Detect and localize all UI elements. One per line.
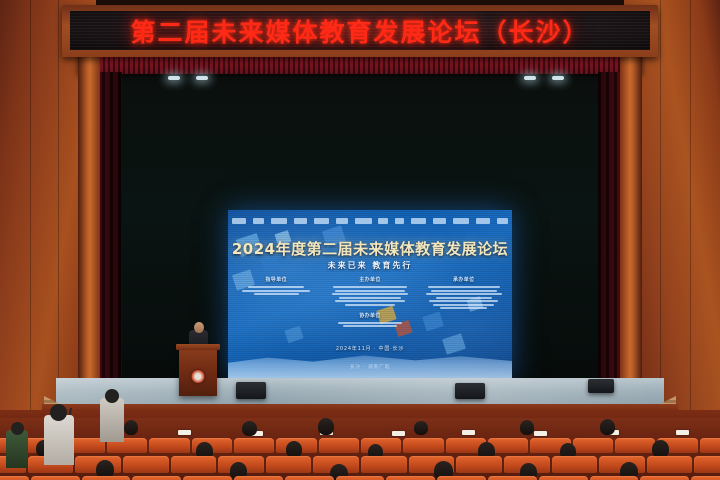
organizer-column-heading: 主办单位 bbox=[330, 276, 410, 283]
organizer-column: 指导单位 bbox=[236, 276, 316, 327]
organizer-column: 承办单位 bbox=[424, 276, 504, 327]
audience-seat bbox=[386, 476, 435, 480]
audience-seat bbox=[319, 438, 359, 453]
audience-seat bbox=[640, 476, 689, 480]
stage-spot-light bbox=[524, 76, 536, 80]
stage-monitor-right bbox=[455, 383, 485, 399]
screen-venue-line: 长沙 · 湖南广电 bbox=[228, 364, 512, 370]
stage-floor bbox=[56, 378, 664, 406]
audience-seat bbox=[403, 438, 443, 453]
stage-spot-light bbox=[196, 76, 208, 80]
audience-seat bbox=[234, 476, 283, 480]
audience-seat bbox=[266, 456, 312, 473]
presenter-head bbox=[194, 322, 204, 333]
audience-head bbox=[124, 420, 138, 435]
wood-pilaster-left bbox=[78, 40, 100, 430]
speaking-podium bbox=[179, 348, 217, 396]
audience-seat bbox=[615, 438, 655, 453]
screen-organizer-columns: 指导单位 主办单位 协办单位 承办单位 bbox=[236, 276, 504, 327]
led-banner-frame: 第二届未来媒体教育发展论坛（长沙） bbox=[62, 5, 658, 57]
audience-seat bbox=[336, 476, 385, 480]
stage-spot-light bbox=[552, 76, 564, 80]
podium-top-surface bbox=[176, 344, 220, 350]
audience-seat bbox=[361, 456, 407, 473]
audience-seat bbox=[647, 456, 693, 473]
stage-led-screen: 2024年度第二届未来媒体教育发展论坛 未来已来 教育先行 指导单位 主办单位 … bbox=[228, 210, 512, 378]
audience-seat bbox=[573, 438, 613, 453]
audience-head bbox=[520, 420, 534, 435]
stage-monitor-left bbox=[236, 382, 266, 399]
audience-seat bbox=[234, 438, 274, 453]
audience-head bbox=[414, 421, 428, 435]
screen-forum-subtitle: 未来已来 教育先行 bbox=[228, 260, 512, 271]
wood-pilaster-right bbox=[620, 40, 642, 430]
audience-seat bbox=[691, 476, 720, 480]
stage-spot-light bbox=[168, 76, 180, 80]
audience-seat bbox=[700, 438, 720, 453]
sponsor-logo-strip bbox=[232, 216, 508, 225]
audience-seat bbox=[183, 476, 232, 480]
screen-date-line: 2024年11月 · 中国·长沙 bbox=[228, 345, 512, 352]
organizer-column-heading: 承办单位 bbox=[424, 276, 504, 283]
audience-seat bbox=[456, 456, 502, 473]
audience-seat-row bbox=[0, 476, 720, 480]
audience-seat bbox=[123, 456, 169, 473]
audience-seat bbox=[552, 456, 598, 473]
audience-seat bbox=[31, 476, 80, 480]
auditorium-stage-photo: 第二届未来媒体教育发展论坛（长沙） bbox=[0, 0, 720, 480]
audience-seat bbox=[149, 438, 189, 453]
audience-seat bbox=[0, 476, 29, 480]
audience-seat bbox=[285, 476, 334, 480]
podium-emblem-icon bbox=[192, 370, 205, 383]
organizer-column-heading: 指导单位 bbox=[236, 276, 316, 283]
photographer-head bbox=[50, 404, 67, 421]
audience-head bbox=[242, 421, 257, 436]
audience-seat bbox=[437, 476, 486, 480]
audience-seat bbox=[82, 476, 131, 480]
audience-head bbox=[600, 419, 615, 435]
audience-head bbox=[318, 418, 334, 435]
photographer-head bbox=[11, 422, 24, 435]
audience-seat bbox=[539, 476, 588, 480]
stage-monitor-far-right bbox=[588, 379, 614, 393]
audience-seat bbox=[488, 476, 537, 480]
photographer-standing-center bbox=[100, 398, 124, 442]
led-banner-panel: 第二届未来媒体教育发展论坛（长沙） bbox=[70, 11, 650, 50]
led-banner-text: 第二届未来媒体教育发展论坛（长沙） bbox=[130, 13, 589, 49]
audience-seat bbox=[694, 456, 720, 473]
photographer-with-tripod-left bbox=[44, 415, 74, 465]
organizer-column: 主办单位 协办单位 bbox=[330, 276, 410, 327]
screen-forum-title: 2024年度第二届未来媒体教育发展论坛 bbox=[228, 238, 512, 259]
organizer-column-heading: 协办单位 bbox=[330, 312, 410, 319]
photographer-head bbox=[105, 389, 119, 403]
photographer-crouching bbox=[6, 430, 28, 468]
audience-seat bbox=[171, 456, 217, 473]
